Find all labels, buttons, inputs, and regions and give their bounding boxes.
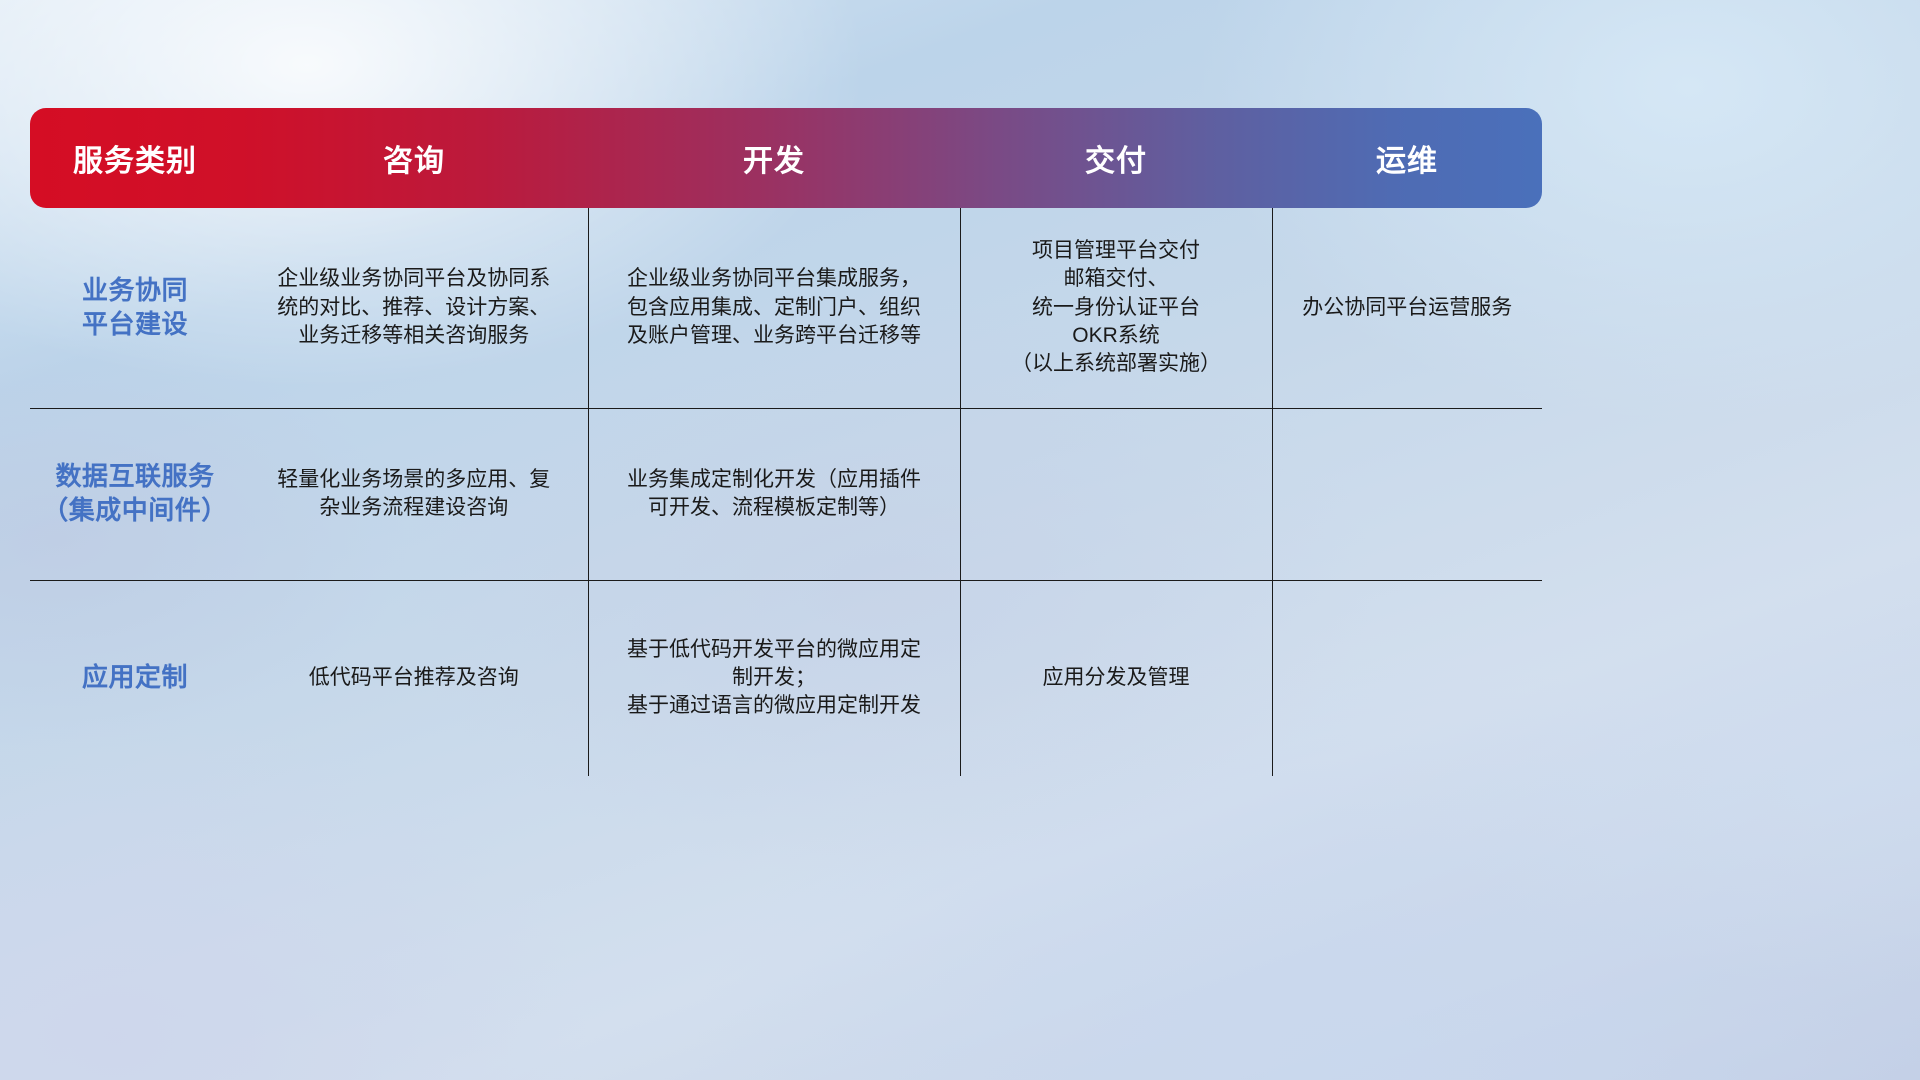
cell-delivery: 项目管理平台交付 邮箱交付、 统一身份认证平台 OKR系统 （以上系统部署实施）: [960, 208, 1272, 408]
cell-line: 应用分发及管理: [973, 664, 1260, 692]
cell-consulting: 企业级业务协同平台及协同系 统的对比、推荐、设计方案、 业务迁移等相关咨询服务: [240, 208, 588, 408]
cell-consulting: 轻量化业务场景的多应用、复 杂业务流程建设咨询: [240, 408, 588, 580]
column-header-consulting: 咨询: [240, 108, 588, 208]
cell-development: 企业级业务协同平台集成服务， 包含应用集成、定制门户、组织 及账户管理、业务跨平…: [588, 208, 960, 408]
cell-line: 统一身份认证平台: [973, 294, 1260, 322]
cell-line: 项目管理平台交付: [973, 237, 1260, 265]
cell-line: （以上系统部署实施）: [973, 350, 1260, 378]
cell-line: 办公协同平台运营服务: [1285, 294, 1531, 322]
category-line: 平台建设: [42, 308, 228, 342]
cell-line: OKR系统: [973, 322, 1260, 350]
cell-line: 业务集成定制化开发（应用插件: [601, 466, 948, 494]
table-row: 业务协同 平台建设 企业级业务协同平台及协同系 统的对比、推荐、设计方案、 业务…: [30, 208, 1542, 408]
category-line: （集成中间件）: [42, 494, 228, 528]
cell-line: 业务迁移等相关咨询服务: [252, 322, 576, 350]
cell-consulting: 低代码平台推荐及咨询: [240, 580, 588, 776]
column-header-delivery: 交付: [960, 108, 1272, 208]
row-category-label: 应用定制: [30, 580, 240, 776]
table-header: 服务类别 咨询 开发 交付 运维: [30, 108, 1542, 208]
cell-line: 低代码平台推荐及咨询: [252, 664, 576, 692]
cell-line: 统的对比、推荐、设计方案、: [252, 294, 576, 322]
cell-line: 企业级业务协同平台及协同系: [252, 265, 576, 293]
cell-operations: [1272, 580, 1542, 776]
row-category-label: 数据互联服务 （集成中间件）: [30, 408, 240, 580]
cell-line: 制开发；: [601, 664, 948, 692]
cell-line: 企业级业务协同平台集成服务，: [601, 265, 948, 293]
category-line: 数据互联服务: [42, 460, 228, 494]
cell-line: 包含应用集成、定制门户、组织: [601, 294, 948, 322]
cell-delivery: [960, 408, 1272, 580]
cell-line: 基于通过语言的微应用定制开发: [601, 692, 948, 720]
category-line: 应用定制: [42, 661, 228, 695]
table-body: 业务协同 平台建设 企业级业务协同平台及协同系 统的对比、推荐、设计方案、 业务…: [30, 208, 1542, 776]
service-matrix-table: 服务类别 咨询 开发 交付 运维 业务协同 平台建设 企业级业务协同平台及协同系…: [30, 108, 1542, 776]
cell-development: 业务集成定制化开发（应用插件 可开发、流程模板定制等）: [588, 408, 960, 580]
cell-line: 杂业务流程建设咨询: [252, 494, 576, 522]
cell-operations: 办公协同平台运营服务: [1272, 208, 1542, 408]
cell-development: 基于低代码开发平台的微应用定 制开发； 基于通过语言的微应用定制开发: [588, 580, 960, 776]
table-row: 数据互联服务 （集成中间件） 轻量化业务场景的多应用、复 杂业务流程建设咨询 业…: [30, 408, 1542, 580]
service-matrix-table-container: 服务类别 咨询 开发 交付 运维 业务协同 平台建设 企业级业务协同平台及协同系…: [30, 108, 1542, 776]
column-header-operations: 运维: [1272, 108, 1542, 208]
cell-line: 及账户管理、业务跨平台迁移等: [601, 322, 948, 350]
table-row: 应用定制 低代码平台推荐及咨询 基于低代码开发平台的微应用定 制开发； 基于通过…: [30, 580, 1542, 776]
cell-line: 轻量化业务场景的多应用、复: [252, 466, 576, 494]
cell-line: 邮箱交付、: [973, 265, 1260, 293]
row-category-label: 业务协同 平台建设: [30, 208, 240, 408]
category-line: 业务协同: [42, 274, 228, 308]
table-header-row: 服务类别 咨询 开发 交付 运维: [30, 108, 1542, 208]
cell-operations: [1272, 408, 1542, 580]
cell-delivery: 应用分发及管理: [960, 580, 1272, 776]
cell-line: 基于低代码开发平台的微应用定: [601, 636, 948, 664]
column-header-service-category: 服务类别: [30, 108, 240, 208]
column-header-development: 开发: [588, 108, 960, 208]
cell-line: 可开发、流程模板定制等）: [601, 494, 948, 522]
